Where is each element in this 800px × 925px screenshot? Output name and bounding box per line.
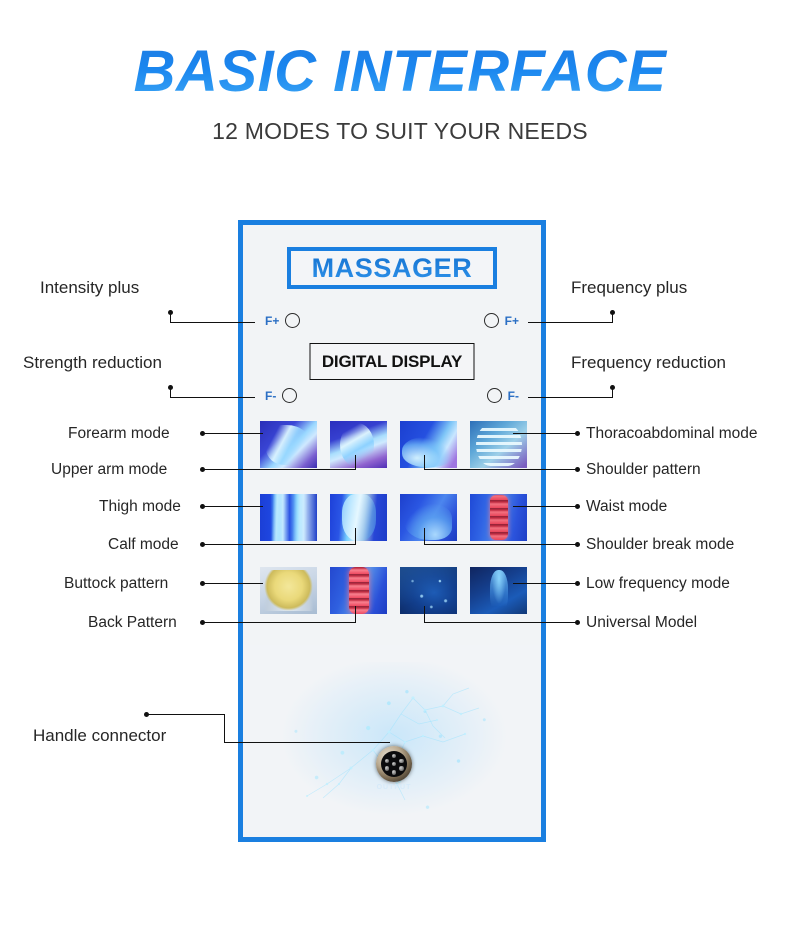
callout-thoracoabdominal-mode: Thoracoabdominal mode [586, 425, 757, 443]
callout-upper-arm-mode: Upper arm mode [51, 461, 167, 479]
strength-reduction-button[interactable]: F- [265, 388, 297, 403]
callout-thigh-mode: Thigh mode [99, 498, 181, 516]
page-title: BASIC INTERFACE [0, 38, 800, 105]
frequency-plus-circle-icon[interactable] [484, 313, 499, 328]
strength-reduction-label: F- [265, 389, 276, 403]
mode-thumb-forearm[interactable] [260, 421, 317, 468]
mode-grid [260, 421, 526, 614]
mode-thumb-thoracoabdominal[interactable] [470, 421, 527, 468]
intensity-plus-label: F+ [265, 314, 279, 328]
mode-thumb-upper-arm[interactable] [330, 421, 387, 468]
frequency-reduction-button[interactable]: F- [487, 388, 519, 403]
callout-back-pattern: Back Pattern [88, 614, 177, 632]
mode-thumb-shoulder[interactable] [400, 421, 457, 468]
intensity-plus-button[interactable]: F+ [265, 313, 300, 328]
callout-forearm-mode: Forearm mode [68, 425, 170, 443]
callout-handle-connector: Handle connector [33, 726, 166, 746]
runner-particle-graphic: OUTPUT [265, 662, 523, 827]
connector-core [381, 751, 407, 777]
mode-thumb-calf[interactable] [330, 494, 387, 541]
output-connector-port[interactable] [376, 746, 412, 782]
page-subtitle: 12 MODES TO SUIT YOUR NEEDS [0, 118, 800, 145]
callout-intensity-plus: Intensity plus [40, 278, 139, 298]
intensity-plus-circle-icon[interactable] [285, 313, 300, 328]
massager-device: MASSAGER F+ F+ F- F- DIGITAL DISP [238, 220, 546, 842]
brand-plate: MASSAGER [287, 247, 497, 289]
device-control-panel: MASSAGER F+ F+ F- F- DIGITAL DISP [243, 225, 541, 645]
frequency-reduction-label: F- [508, 389, 519, 403]
device-graphic-panel: OUTPUT [243, 650, 541, 837]
mode-thumb-waist[interactable] [470, 494, 527, 541]
brand-label: MASSAGER [312, 253, 473, 284]
mode-thumb-back[interactable] [330, 567, 387, 614]
page-root: BASIC INTERFACE 12 MODES TO SUIT YOUR NE… [0, 0, 800, 925]
callout-waist-mode: Waist mode [586, 498, 667, 516]
frequency-plus-button[interactable]: F+ [484, 313, 519, 328]
frequency-plus-label: F+ [505, 314, 519, 328]
mode-thumb-thigh[interactable] [260, 494, 317, 541]
mode-thumb-buttock[interactable] [260, 567, 317, 614]
callout-strength-reduction: Strength reduction [23, 353, 162, 373]
callout-frequency-plus: Frequency plus [571, 278, 687, 298]
digital-display: DIGITAL DISPLAY [310, 343, 475, 380]
strength-reduction-circle-icon[interactable] [282, 388, 297, 403]
mode-thumb-universal[interactable] [400, 567, 457, 614]
callout-frequency-reduction: Frequency reduction [571, 353, 726, 373]
callout-buttock-pattern: Buttock pattern [64, 575, 168, 593]
output-port-label: OUTPUT [377, 784, 412, 791]
callout-shoulder-pattern: Shoulder pattern [586, 461, 701, 479]
callout-shoulder-break-mode: Shoulder break mode [586, 536, 734, 554]
callout-low-frequency-mode: Low frequency mode [586, 575, 730, 593]
callout-calf-mode: Calf mode [108, 536, 179, 554]
frequency-reduction-circle-icon[interactable] [487, 388, 502, 403]
mode-thumb-low-frequency[interactable] [470, 567, 527, 614]
mode-thumb-shoulder-break[interactable] [400, 494, 457, 541]
callout-universal-model: Universal Model [586, 614, 697, 632]
